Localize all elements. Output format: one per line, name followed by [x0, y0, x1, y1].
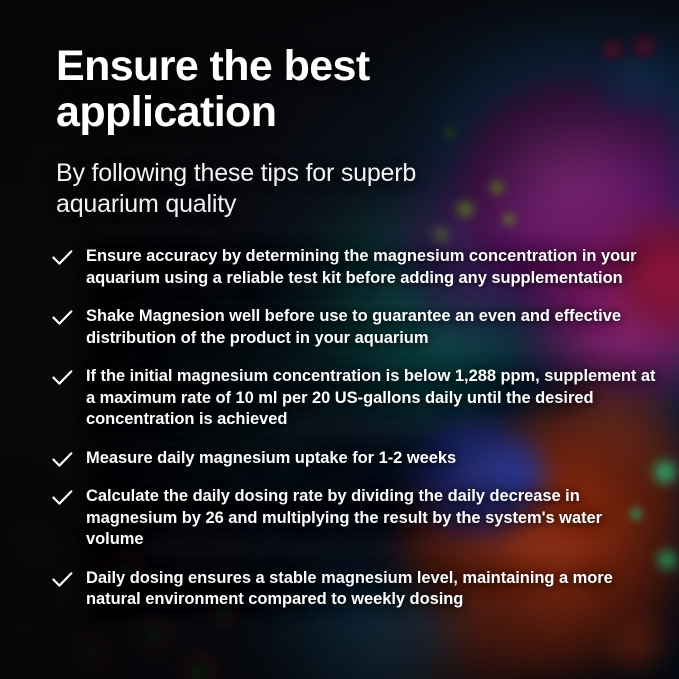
list-item: Measure daily magnesium uptake for 1-2 w…	[52, 448, 661, 470]
tip-text: Shake Magnesion well before use to guara…	[86, 306, 658, 349]
check-icon	[52, 486, 86, 506]
tip-text: Measure daily magnesium uptake for 1-2 w…	[86, 448, 658, 470]
headline: Ensure the best application	[56, 44, 576, 135]
content-layer: Ensure the best application By following…	[0, 0, 679, 679]
check-icon	[52, 306, 86, 326]
check-icon	[52, 448, 86, 468]
promo-card: Ensure the best application By following…	[0, 0, 679, 679]
tip-text: Ensure accuracy by determining the magne…	[86, 246, 658, 289]
tip-text: Daily dosing ensures a stable magnesium …	[86, 568, 658, 611]
list-item: Calculate the daily dosing rate by divid…	[52, 486, 661, 551]
tip-text: Calculate the daily dosing rate by divid…	[86, 486, 658, 551]
list-item: Daily dosing ensures a stable magnesium …	[52, 568, 661, 611]
check-icon	[52, 568, 86, 588]
check-icon	[52, 246, 86, 266]
tip-text: If the initial magnesium concentration i…	[86, 366, 658, 431]
check-icon	[52, 366, 86, 386]
tips-list: Ensure accuracy by determining the magne…	[52, 246, 661, 611]
list-item: If the initial magnesium concentration i…	[52, 366, 661, 431]
list-item: Ensure accuracy by determining the magne…	[52, 246, 661, 289]
list-item: Shake Magnesion well before use to guara…	[52, 306, 661, 349]
subheadline: By following these tips for superb aquar…	[56, 158, 486, 221]
